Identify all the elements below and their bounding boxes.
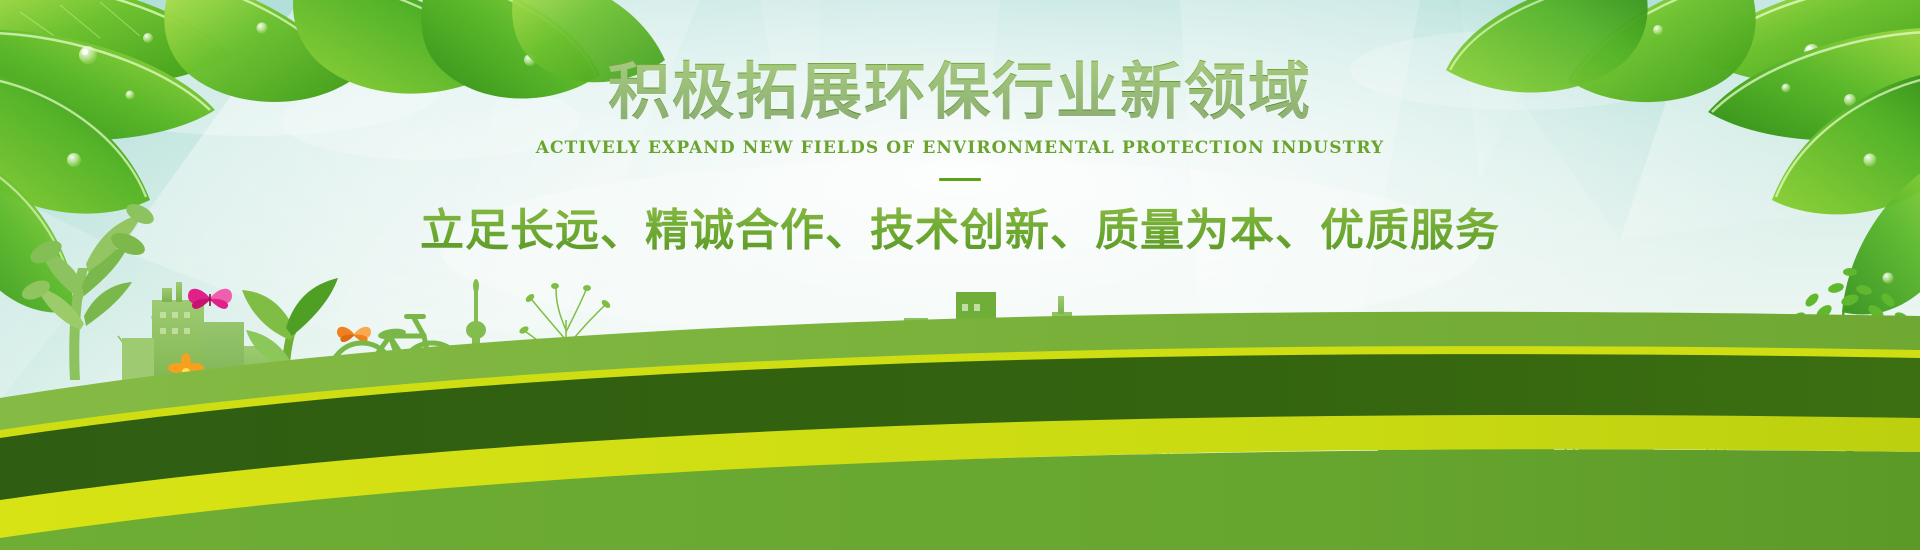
wave-bands <box>0 0 1920 550</box>
eco-banner: 积极拓展环保行业新领域 ACTIVELY EXPAND NEW FIELDS O… <box>0 0 1920 550</box>
